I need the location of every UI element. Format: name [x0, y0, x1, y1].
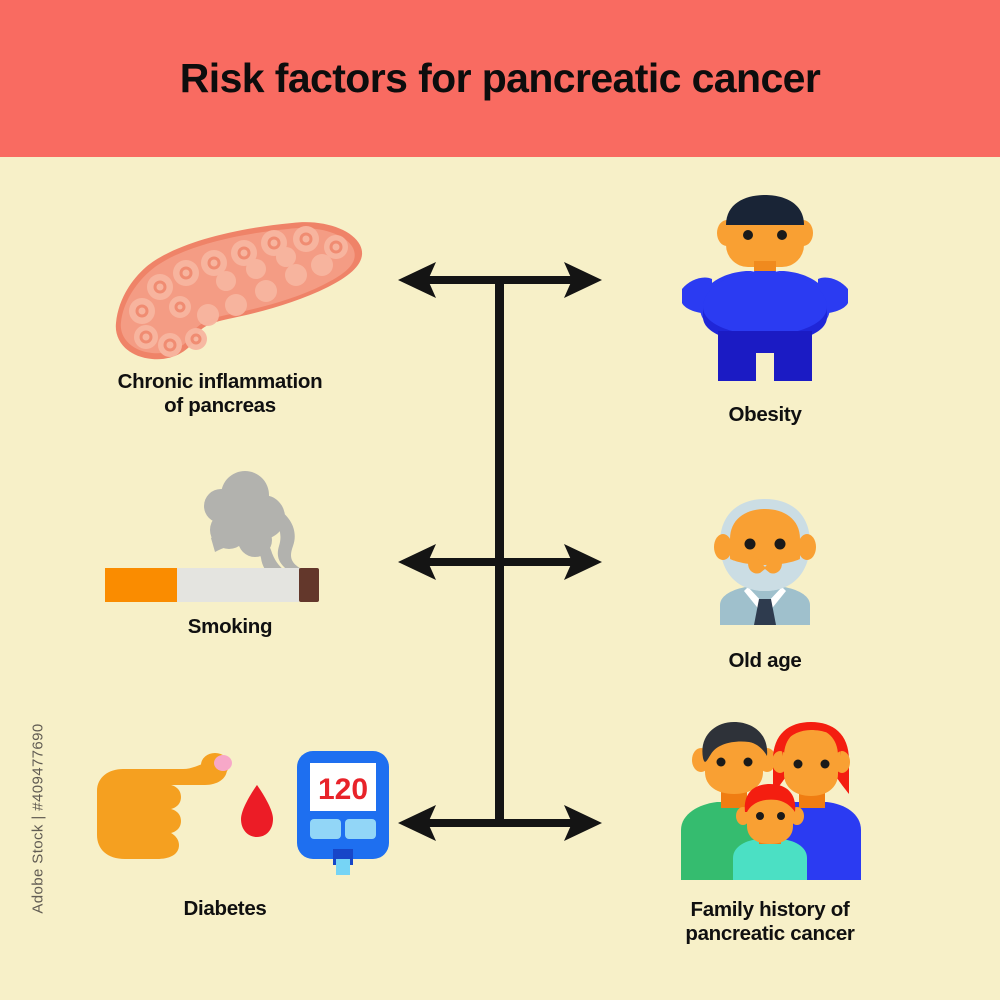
- child-shirt: [733, 839, 807, 880]
- label-line-1: Obesity: [660, 403, 870, 427]
- label-line-2: pancreatic cancer: [655, 922, 885, 946]
- label-line-1: Diabetes: [75, 897, 375, 921]
- mother-eye-right: [821, 760, 830, 769]
- factor-obesity: Obesity: [660, 195, 870, 427]
- child-eye-right: [777, 812, 785, 820]
- label-line-1: Old age: [690, 649, 840, 673]
- pancreas-icon: [116, 222, 362, 359]
- glucose-reading: 120: [318, 773, 368, 806]
- factor-label-obesity: Obesity: [660, 403, 870, 427]
- test-strip: [336, 859, 350, 875]
- cigarette-paper: [177, 568, 299, 602]
- device-button-right: [345, 819, 376, 839]
- eye-right: [775, 539, 786, 550]
- father-eye-right: [744, 758, 753, 767]
- factor-diabetes: 120 Diabetes: [75, 745, 375, 921]
- label-line-1: Chronic inflammation: [60, 370, 380, 394]
- cigarette-ember: [299, 568, 319, 602]
- blood-drop-icon: [241, 785, 273, 837]
- page-title: Risk factors for pancreatic cancer: [180, 55, 820, 102]
- eye-right: [777, 230, 787, 240]
- old-age-illustration: [690, 495, 840, 625]
- factor-family-history: Family history of pancreatic cancer: [655, 720, 885, 946]
- center-arrow-connector: [390, 250, 610, 870]
- obese-person-icon: [682, 195, 848, 381]
- child-eye-left: [756, 812, 764, 820]
- family-illustration: [655, 720, 885, 880]
- arrow-group: [398, 262, 602, 841]
- pants: [718, 331, 812, 381]
- father-eye-left: [717, 758, 726, 767]
- family-icon: [681, 722, 861, 880]
- factor-label-diabetes: Diabetes: [75, 897, 375, 921]
- obesity-illustration: [660, 195, 870, 385]
- label-line-1: Family history of: [655, 898, 885, 922]
- header-band: Risk factors for pancreatic cancer: [0, 0, 1000, 157]
- eye-left: [743, 230, 753, 240]
- mother-face: [784, 728, 838, 796]
- pointing-hand-icon: [97, 753, 232, 859]
- elderly-person-icon: [714, 499, 816, 625]
- cigarette-icon: [105, 471, 319, 602]
- fingertip: [214, 755, 232, 771]
- smoking-illustration: [105, 470, 355, 615]
- factor-label-smoking: Smoking: [105, 615, 355, 639]
- factor-label-family: Family history of pancreatic cancer: [655, 898, 885, 946]
- mother-eye-left: [794, 760, 803, 769]
- eye-left: [745, 539, 756, 550]
- watermark-text: Adobe Stock | #409477690: [30, 719, 47, 919]
- diabetes-illustration: 120: [75, 745, 375, 875]
- vertical-spine: [495, 280, 504, 825]
- device-button-left: [310, 819, 341, 839]
- label-line-1: Smoking: [105, 615, 355, 639]
- cigarette-filter: [105, 568, 177, 602]
- factor-old-age: Old age: [690, 495, 840, 673]
- infographic-root: Risk factors for pancreatic cancer Adobe…: [0, 0, 1000, 1000]
- label-line-2: of pancreas: [60, 394, 380, 418]
- factor-label-old-age: Old age: [690, 649, 840, 673]
- factor-smoking: Smoking: [105, 470, 355, 639]
- factor-chronic-inflammation: Chronic inflammation of pancreas: [60, 215, 380, 418]
- factor-label-pancreas: Chronic inflammation of pancreas: [60, 370, 380, 418]
- cap-icon: [726, 195, 804, 225]
- pancreas-illustration: [60, 215, 380, 370]
- glucometer-icon: 120: [297, 751, 389, 875]
